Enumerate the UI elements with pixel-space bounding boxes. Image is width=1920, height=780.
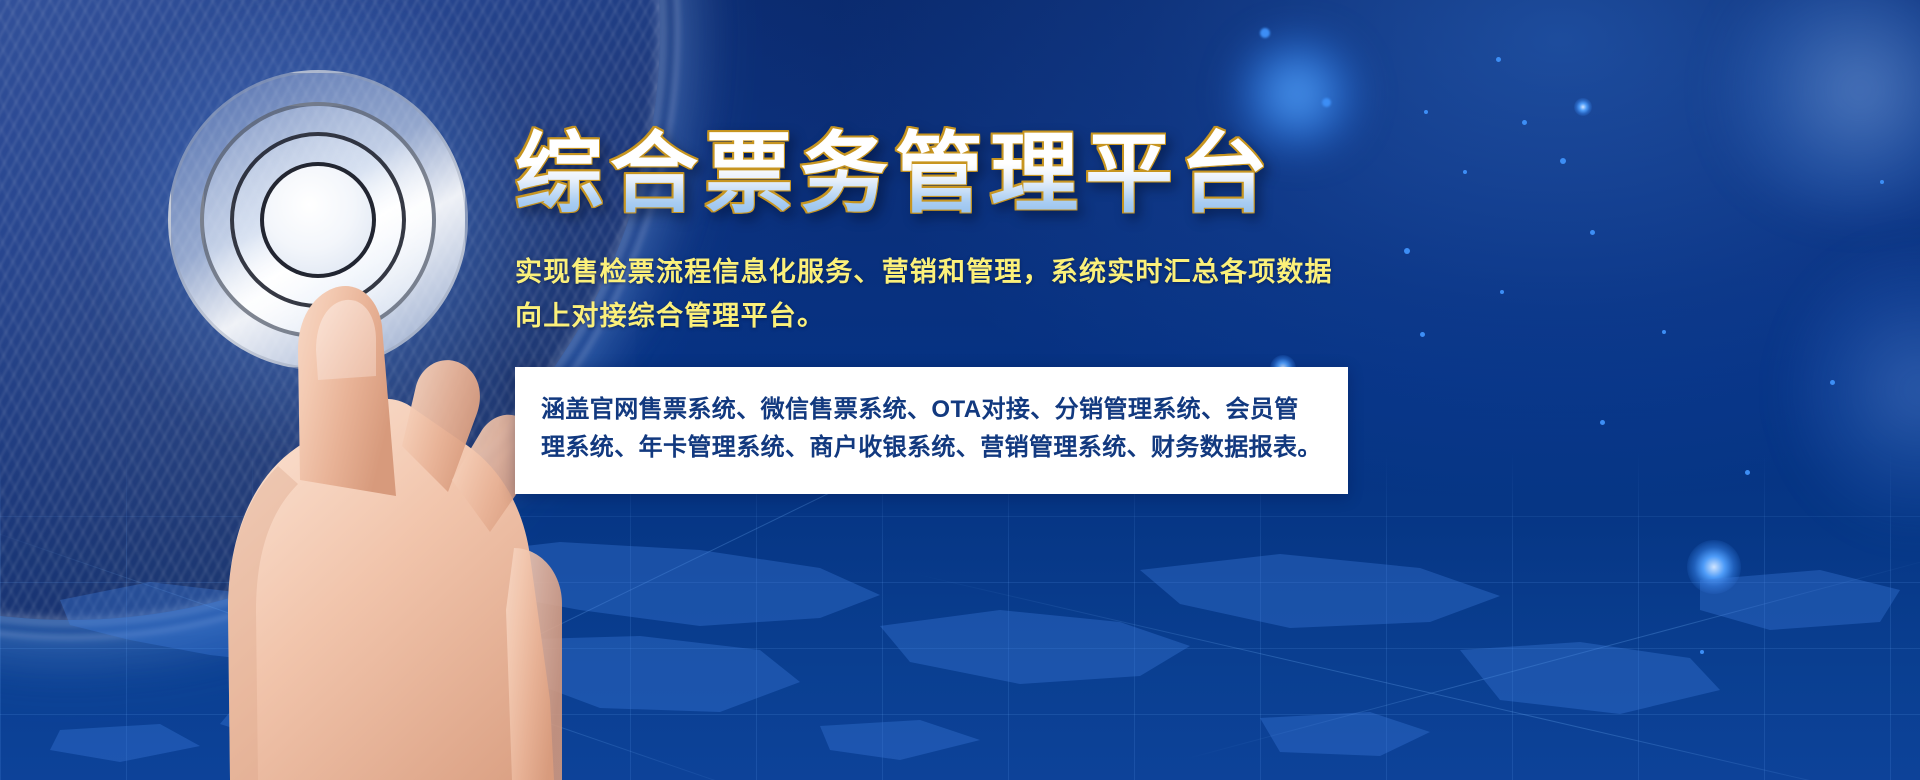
page-subtitle: 实现售检票流程信息化服务、营销和管理，系统实时汇总各项数据向上对接综合管理平台。 bbox=[515, 251, 1360, 338]
particle-dot bbox=[1260, 28, 1270, 38]
particle-dot bbox=[1830, 380, 1835, 385]
banner-content: 综合票务管理平台 实现售检票流程信息化服务、营销和管理，系统实时汇总各项数据向上… bbox=[515, 126, 1360, 494]
particle-dot bbox=[1880, 180, 1884, 184]
particle-dot bbox=[1662, 330, 1666, 334]
particle-dot bbox=[1322, 98, 1331, 107]
particle-dot bbox=[1522, 120, 1527, 125]
particle-dot bbox=[1424, 110, 1428, 114]
feature-callout-box: 涵盖官网售票系统、微信售票系统、OTA对接、分销管理系统、会员管理系统、年卡管理… bbox=[515, 367, 1348, 495]
feature-callout-text: 涵盖官网售票系统、微信售票系统、OTA对接、分销管理系统、会员管理系统、年卡管理… bbox=[541, 391, 1322, 469]
particle-ring-3 bbox=[1574, 98, 1592, 116]
particle-dot bbox=[1600, 420, 1605, 425]
particle-dot bbox=[1496, 57, 1501, 62]
particle-dot bbox=[1590, 230, 1595, 235]
particle-dot bbox=[1560, 158, 1566, 164]
particle-dot bbox=[1404, 248, 1410, 254]
glow-orb-medium bbox=[1700, 0, 1920, 220]
pointing-hand-icon bbox=[110, 180, 580, 780]
particle-dot bbox=[1463, 170, 1467, 174]
page-title: 综合票务管理平台 bbox=[515, 126, 1360, 221]
particle-dot bbox=[1500, 290, 1504, 294]
banner-stage: 综合票务管理平台 实现售检票流程信息化服务、营销和管理，系统实时汇总各项数据向上… bbox=[0, 0, 1920, 780]
particle-dot bbox=[1420, 332, 1425, 337]
